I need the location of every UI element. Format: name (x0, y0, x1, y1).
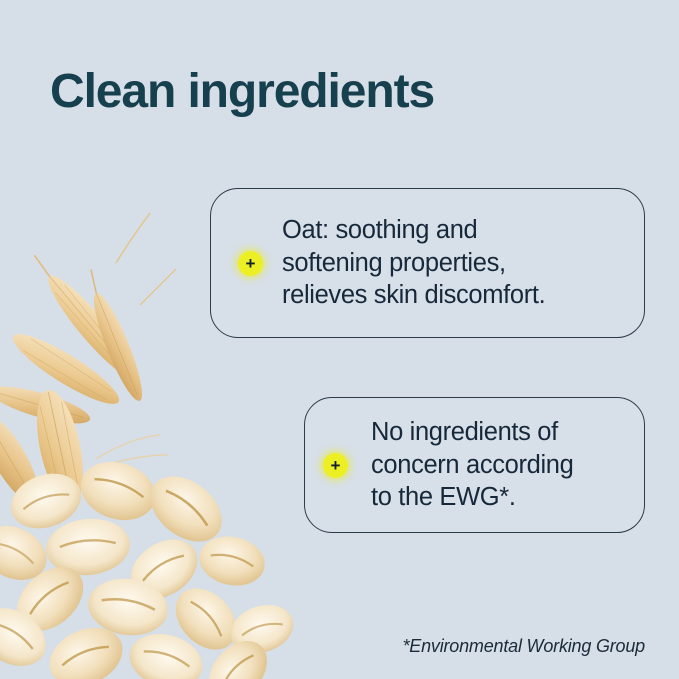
fact-card-oat: + Oat: soothing and softening properties… (210, 188, 645, 338)
oat-spikelet-group (0, 213, 176, 510)
oat-flake-group (0, 453, 300, 679)
promo-graphic: Clean ingredients + Oat: soothing and so… (0, 0, 679, 679)
plus-icon: + (323, 453, 348, 478)
plus-icon: + (238, 251, 263, 276)
fact-card-ewg-text: No ingredients of concern according to t… (371, 416, 573, 514)
page-title: Clean ingredients (50, 64, 434, 119)
fact-card-oat-text: Oat: soothing and softening properties, … (282, 214, 545, 312)
fact-card-ewg: + No ingredients of concern according to… (304, 397, 645, 533)
footnote: *Environmental Working Group (402, 636, 645, 657)
